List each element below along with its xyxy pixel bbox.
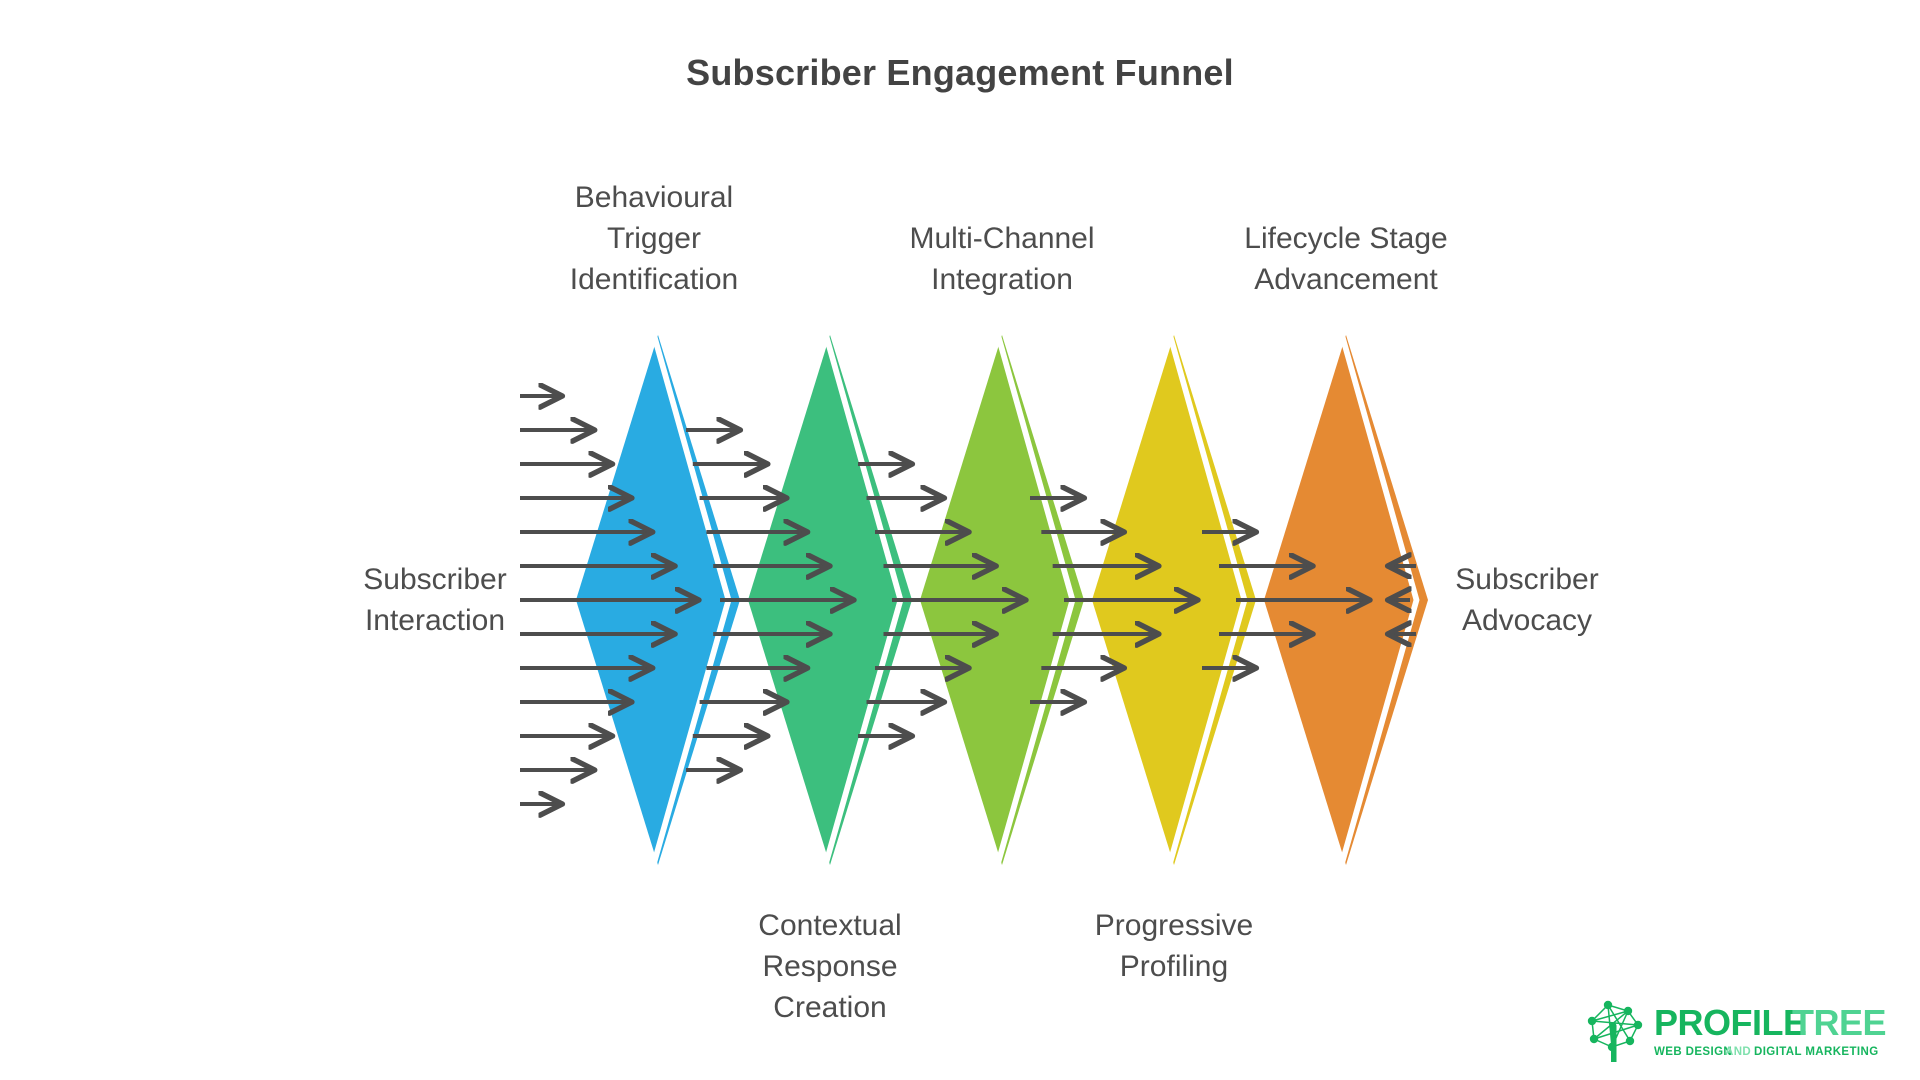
logo-wordmark-bold: PROFILE: [1654, 1002, 1807, 1043]
stage-label-line: Creation: [680, 987, 980, 1028]
stage-diamond: [748, 335, 912, 865]
logo-tagline-part2: DIGITAL MARKETING: [1754, 1046, 1879, 1058]
stage-diamond: [1092, 335, 1256, 865]
entry-label: Subscriber Interaction: [320, 559, 550, 641]
entry-label-line2: Interaction: [320, 600, 550, 641]
logo-tagline-and: AND: [1725, 1046, 1751, 1058]
funnel-flow-arrows: [520, 396, 1416, 804]
tree-icon: [1588, 1001, 1642, 1062]
page-title: Subscriber Engagement Funnel: [0, 52, 1920, 94]
funnel-stage-5: [1264, 335, 1428, 865]
funnel-stage-4: [1092, 335, 1256, 865]
funnel-stage-1: [576, 335, 740, 865]
exit-label-line2: Advocacy: [1412, 600, 1642, 641]
stage-label-line: Multi-Channel: [852, 218, 1152, 259]
diagram-canvas: Subscriber Engagement Funnel Subscriber …: [0, 0, 1920, 1080]
stage-divider: [1167, 335, 1248, 865]
funnel-stage-shapes: [576, 335, 1428, 865]
stage-label-1: BehaviouralTriggerIdentification: [504, 177, 804, 300]
funnel-stage-2: [748, 335, 912, 865]
stage-label-2: ContextualResponseCreation: [680, 905, 980, 1028]
stage-label-line: Response: [680, 946, 980, 987]
logo-svg: PROFILE TREE WEB DESIGN AND DIGITAL MARK…: [1582, 995, 1892, 1065]
stage-divider: [1339, 335, 1420, 865]
profiletree-logo: PROFILE TREE WEB DESIGN AND DIGITAL MARK…: [1582, 995, 1892, 1065]
stage-label-line: Contextual: [680, 905, 980, 946]
exit-label: Subscriber Advocacy: [1412, 559, 1642, 641]
stage-label-3: Multi-ChannelIntegration: [852, 218, 1152, 300]
logo-wordmark-light: TREE: [1792, 1002, 1886, 1043]
entry-label-line1: Subscriber: [320, 559, 550, 600]
stage-label-line: Identification: [504, 259, 804, 300]
stage-label-line: Advancement: [1196, 259, 1496, 300]
stage-label-line: Lifecycle Stage: [1196, 218, 1496, 259]
stage-diamond: [920, 335, 1084, 865]
stage-diamond: [576, 335, 740, 865]
stage-divider: [823, 335, 904, 865]
stage-divider: [995, 335, 1076, 865]
stage-diamond: [1264, 335, 1428, 865]
stage-label-line: Integration: [852, 259, 1152, 300]
stage-label-line: Progressive: [1024, 905, 1324, 946]
stage-label-line: Behavioural: [504, 177, 804, 218]
exit-label-line1: Subscriber: [1412, 559, 1642, 600]
stage-label-line: Profiling: [1024, 946, 1324, 987]
stage-label-4: ProgressiveProfiling: [1024, 905, 1324, 987]
stage-label-line: Trigger: [504, 218, 804, 259]
stage-label-5: Lifecycle StageAdvancement: [1196, 218, 1496, 300]
stage-divider: [651, 335, 732, 865]
logo-tagline-part1: WEB DESIGN: [1654, 1046, 1732, 1058]
funnel-stage-3: [920, 335, 1084, 865]
